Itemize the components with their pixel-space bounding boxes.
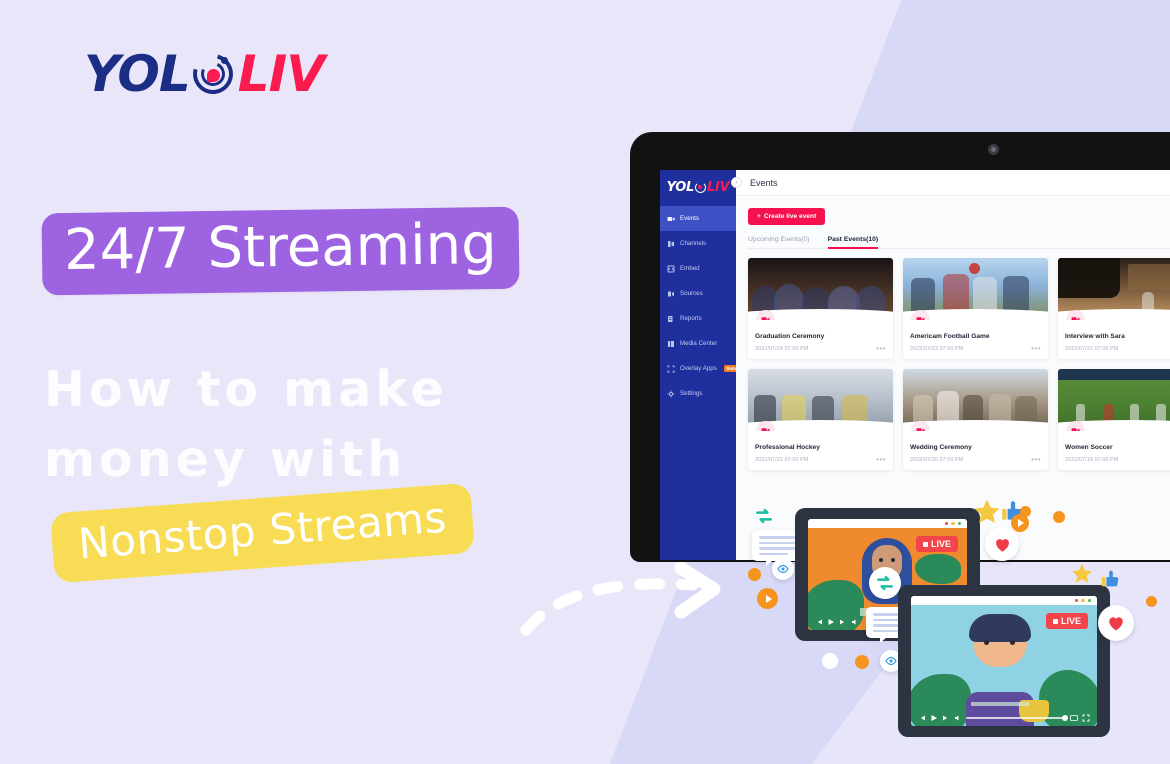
sidebar-item-label: Reports: [680, 315, 702, 322]
video-camera-icon: [1071, 315, 1080, 320]
event-card[interactable]: Americam Football Game 2022/07/23 07:00 …: [903, 258, 1048, 359]
app-screen: YOL LIV Events Channels Embed: [660, 170, 1170, 560]
headline-badge-bottom: Nonstop Streams: [50, 483, 475, 584]
event-title: Women Soccer: [1065, 444, 1170, 451]
video-progress-slider[interactable]: [966, 717, 1066, 719]
browser-window-controls: [808, 519, 967, 528]
video-player-controls[interactable]: [808, 614, 967, 630]
sidebar-item-embed[interactable]: Embed: [660, 256, 736, 281]
gear-icon: [667, 390, 675, 398]
record-dot-icon: [1053, 619, 1058, 624]
event-title: Americam Football Game: [910, 333, 1041, 340]
sidebar-item-overlay-apps[interactable]: Overlay Apps Beta: [660, 356, 736, 381]
play-icon[interactable]: [930, 714, 938, 722]
event-thumbnail: [1058, 258, 1170, 320]
app-sidebar: YOL LIV Events Channels Embed: [660, 170, 736, 560]
events-tabs: Upcoming Events(0) Past Events(10): [748, 236, 1170, 249]
event-card[interactable]: Women Soccer 2022/07/18 07:00 PM •••: [1058, 369, 1170, 470]
video-camera-icon: [916, 315, 925, 320]
volume-icon[interactable]: [954, 714, 962, 722]
video-player-controls[interactable]: [911, 710, 1097, 726]
more-options-icon[interactable]: •••: [876, 458, 886, 462]
source-feed-icon: [667, 290, 675, 298]
tablet-device-front: LIVE: [898, 585, 1110, 737]
sidebar-item-label: Settings: [680, 390, 702, 397]
sidebar-item-reports[interactable]: Reports: [660, 306, 736, 331]
event-type-badge: [911, 310, 930, 320]
thumbs-up-icon: [1100, 568, 1122, 595]
video-camera-icon: [667, 215, 675, 223]
chart-report-icon: [667, 315, 675, 323]
event-date: 2022/07/21 07:00 PM: [755, 457, 808, 463]
repeat-icon: [869, 567, 901, 599]
overlay-frame-icon: [667, 365, 675, 373]
video-camera-icon: [761, 426, 770, 431]
live-label: LIVE: [1061, 616, 1081, 626]
app-main-panel: ‹ Events + Create live event Upcoming Ev…: [736, 170, 1170, 560]
event-thumbnail: [1058, 369, 1170, 431]
live-label: LIVE: [931, 539, 951, 549]
next-icon[interactable]: [942, 714, 950, 722]
sidebar-item-label: Sources: [680, 290, 703, 297]
sidebar-item-channels[interactable]: Channels: [660, 231, 736, 256]
dot-decoration: [855, 655, 869, 669]
sidebar-item-label: Channels: [680, 240, 706, 247]
previous-icon[interactable]: [815, 618, 823, 626]
app-topbar: ‹ Events: [736, 170, 1170, 196]
picture-in-picture-icon[interactable]: [1070, 714, 1078, 722]
event-title: Interview with Sara: [1065, 333, 1170, 340]
event-title: Professional Hockey: [755, 444, 886, 451]
create-live-event-button[interactable]: + Create live event: [748, 208, 825, 225]
dashed-curved-arrow-icon: [518, 552, 748, 642]
repeat-icon: [752, 504, 776, 528]
poster-canvas: YOL LIV 24/7 Streaming How to make money…: [0, 0, 1170, 764]
tab-upcoming-events[interactable]: Upcoming Events(0): [748, 236, 810, 248]
browser-window-controls: [911, 596, 1097, 605]
event-date: 2022/07/24 07:00 PM: [755, 346, 808, 352]
video-camera-icon: [916, 426, 925, 431]
event-type-badge: [1066, 310, 1085, 320]
sidebar-target-dot-icon: [695, 182, 706, 193]
headline-main: How to make money with: [44, 355, 448, 494]
dot-decoration: [748, 568, 761, 581]
event-type-badge: [911, 421, 930, 431]
fullscreen-icon[interactable]: [1082, 714, 1090, 722]
more-options-icon[interactable]: •••: [1031, 458, 1041, 462]
create-live-event-label: Create live event: [764, 213, 816, 220]
play-icon: [822, 653, 838, 669]
target-dot-icon: [191, 51, 237, 97]
heart-icon: [985, 527, 1019, 561]
sidebar-logo-text-primary: YOL: [667, 180, 694, 195]
plus-icon: +: [757, 213, 761, 220]
event-thumbnail: [903, 258, 1048, 320]
live-badge: LIVE: [1046, 613, 1088, 629]
tab-past-events[interactable]: Past Events(10): [828, 236, 879, 248]
heart-icon: [1098, 605, 1134, 641]
video-camera-icon: [1071, 426, 1080, 431]
event-date: 2022/07/23 07:00 PM: [910, 346, 963, 352]
more-options-icon[interactable]: •••: [876, 347, 886, 351]
event-type-badge: [756, 310, 775, 320]
laptop-device: YOL LIV Events Channels Embed: [630, 132, 1170, 562]
brand-logo-text-secondary: LIV: [238, 45, 324, 103]
event-date: 2022/07/22 07:00 PM: [1065, 346, 1118, 352]
event-thumbnail: [748, 258, 893, 320]
event-card[interactable]: Interview with Sara 2022/07/22 07:00 PM …: [1058, 258, 1170, 359]
volume-icon[interactable]: [851, 618, 859, 626]
event-title: Wedding Ceremony: [910, 444, 1041, 451]
broadcast-icon: [667, 240, 675, 248]
sidebar-item-label: Overlay Apps: [680, 365, 717, 372]
eye-icon: [772, 558, 794, 580]
record-dot-icon: [923, 542, 928, 547]
brand-logo: YOL LIV: [84, 45, 324, 103]
event-card[interactable]: Wedding Ceremony 2022/07/20 07:00 PM •••: [903, 369, 1048, 470]
star-icon: [1070, 562, 1094, 591]
dot-decoration: [1053, 511, 1065, 523]
media-library-icon: [667, 340, 675, 348]
event-card[interactable]: Graduation Ceremony 2022/07/24 07:00 PM …: [748, 258, 893, 359]
sidebar-item-label: Events: [680, 215, 699, 222]
sidebar-logo-text-secondary: LIV: [707, 180, 729, 195]
play-icon[interactable]: [827, 618, 835, 626]
previous-icon[interactable]: [918, 714, 926, 722]
more-options-icon[interactable]: •••: [1031, 347, 1041, 351]
dot-decoration: [1146, 596, 1157, 607]
sidebar-item-media-center[interactable]: Media Center: [660, 331, 736, 356]
headline-badge-top-label: 24/7 Streaming: [64, 217, 498, 279]
code-window-icon: [667, 265, 675, 273]
live-badge: LIVE: [916, 536, 958, 552]
headline-badge-top: 24/7 Streaming: [41, 207, 519, 296]
event-type-badge: [756, 421, 775, 431]
event-title: Graduation Ceremony: [755, 333, 886, 340]
sidebar-item-sources[interactable]: Sources: [660, 281, 736, 306]
events-grid: Graduation Ceremony 2022/07/24 07:00 PM …: [748, 258, 1170, 470]
event-thumbnail: [903, 369, 1048, 431]
event-type-badge: [1066, 421, 1085, 431]
sidebar-item-events[interactable]: Events: [660, 206, 736, 231]
video-camera-icon: [761, 315, 770, 320]
play-icon: .play-btn::after{border-left-width:6px;b…: [757, 588, 778, 609]
events-content: + Create live event Upcoming Events(0) P…: [736, 196, 1170, 470]
chevron-left-icon[interactable]: ‹: [731, 177, 742, 188]
sidebar-item-label: Media Center: [680, 340, 717, 347]
webcam-icon: [988, 144, 999, 155]
brand-logo-text-primary: YOL: [84, 45, 190, 103]
sidebar-item-settings[interactable]: Settings: [660, 381, 736, 406]
event-date: 2022/07/20 07:00 PM: [910, 457, 963, 463]
event-date: 2022/07/18 07:00 PM: [1065, 457, 1118, 463]
page-title: Events: [750, 178, 778, 188]
sidebar-item-label: Embed: [680, 265, 700, 272]
play-icon: [1011, 514, 1029, 532]
next-icon[interactable]: [839, 618, 847, 626]
headline-badge-bottom-label: Nonstop Streams: [77, 497, 448, 566]
sidebar-brand-logo: YOL LIV: [660, 180, 736, 195]
event-thumbnail: [748, 369, 893, 431]
event-card[interactable]: Professional Hockey 2022/07/21 07:00 PM …: [748, 369, 893, 470]
